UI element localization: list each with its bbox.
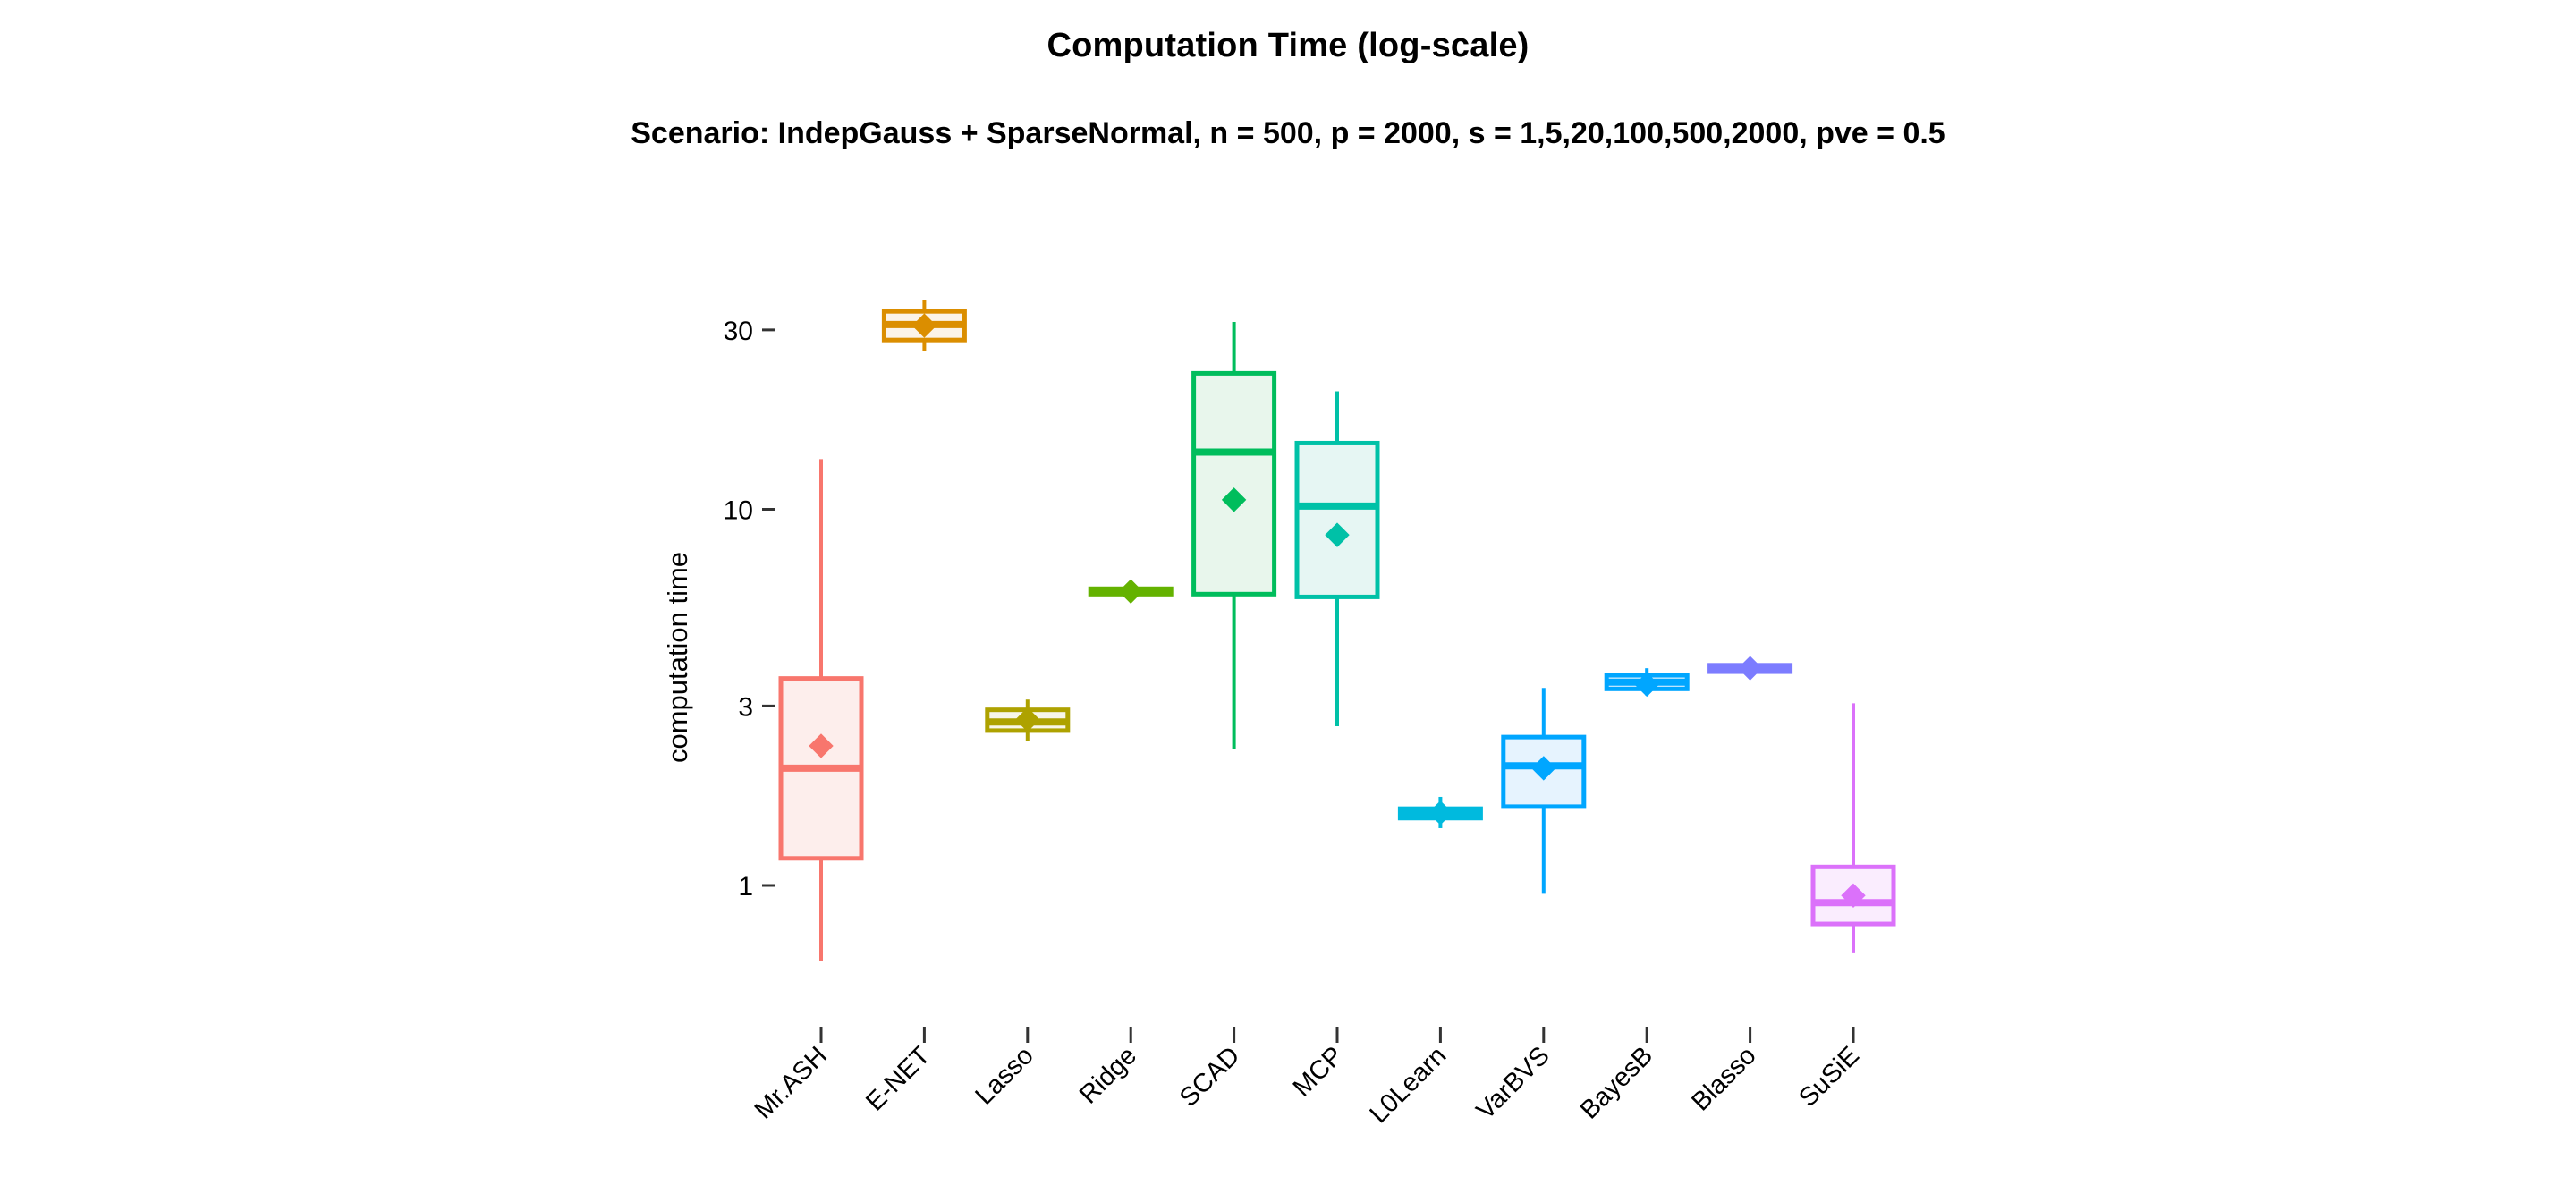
y-tick-label: 30 [724, 317, 753, 346]
x-tick-label: SuSiE [1793, 1041, 1865, 1113]
x-tick-label: BayesB [1575, 1041, 1658, 1124]
box-series [780, 300, 1895, 961]
box-scad[interactable] [1192, 322, 1275, 749]
mean-diamond-marker [1428, 801, 1452, 825]
x-tick-label: L0Learn [1364, 1041, 1452, 1129]
box-ridge[interactable] [1089, 580, 1173, 603]
box-rect[interactable] [1194, 373, 1275, 594]
mean-diamond-marker [1739, 656, 1762, 680]
x-tick-label: VarBVS [1471, 1041, 1555, 1125]
y-tick-label: 1 [738, 872, 753, 901]
x-tick-label: Mr.ASH [750, 1041, 833, 1124]
box-mr-ash[interactable] [780, 459, 863, 961]
box-rect[interactable] [1297, 443, 1377, 597]
boxplot-panel: 131030 Mr.ASHE-NETLassoRidgeSCADMCPL0Lea… [0, 0, 2576, 1202]
boxplot-svg: 131030 Mr.ASHE-NETLassoRidgeSCADMCPL0Lea… [0, 0, 2576, 1202]
y-tick-label: 3 [738, 692, 753, 722]
y-axis: 131030 [724, 317, 775, 901]
chart-canvas: Computation Time (log-scale) Scenario: I… [0, 0, 2576, 1202]
x-tick-label: MCP [1288, 1041, 1349, 1102]
box-susie[interactable] [1812, 703, 1895, 953]
y-tick-label: 10 [724, 496, 753, 526]
x-tick-label: Blasso [1686, 1041, 1761, 1116]
box-mcp[interactable] [1296, 392, 1379, 727]
x-tick-label: Lasso [970, 1041, 1038, 1110]
x-tick-label: E-NET [860, 1041, 936, 1116]
x-tick-label: Ridge [1074, 1041, 1142, 1109]
box-lasso[interactable] [986, 699, 1069, 741]
box-e-net[interactable] [883, 300, 966, 351]
box-blasso[interactable] [1708, 656, 1792, 680]
x-tick-label: SCAD [1174, 1041, 1246, 1113]
y-axis-title: computation time [662, 552, 693, 763]
mean-diamond-marker [1119, 580, 1142, 603]
box-bayesb[interactable] [1606, 668, 1689, 696]
box-l0learn[interactable] [1399, 797, 1482, 828]
x-axis: Mr.ASHE-NETLassoRidgeSCADMCPL0LearnVarBV… [750, 1027, 1865, 1129]
box-varbvs[interactable] [1502, 688, 1585, 893]
